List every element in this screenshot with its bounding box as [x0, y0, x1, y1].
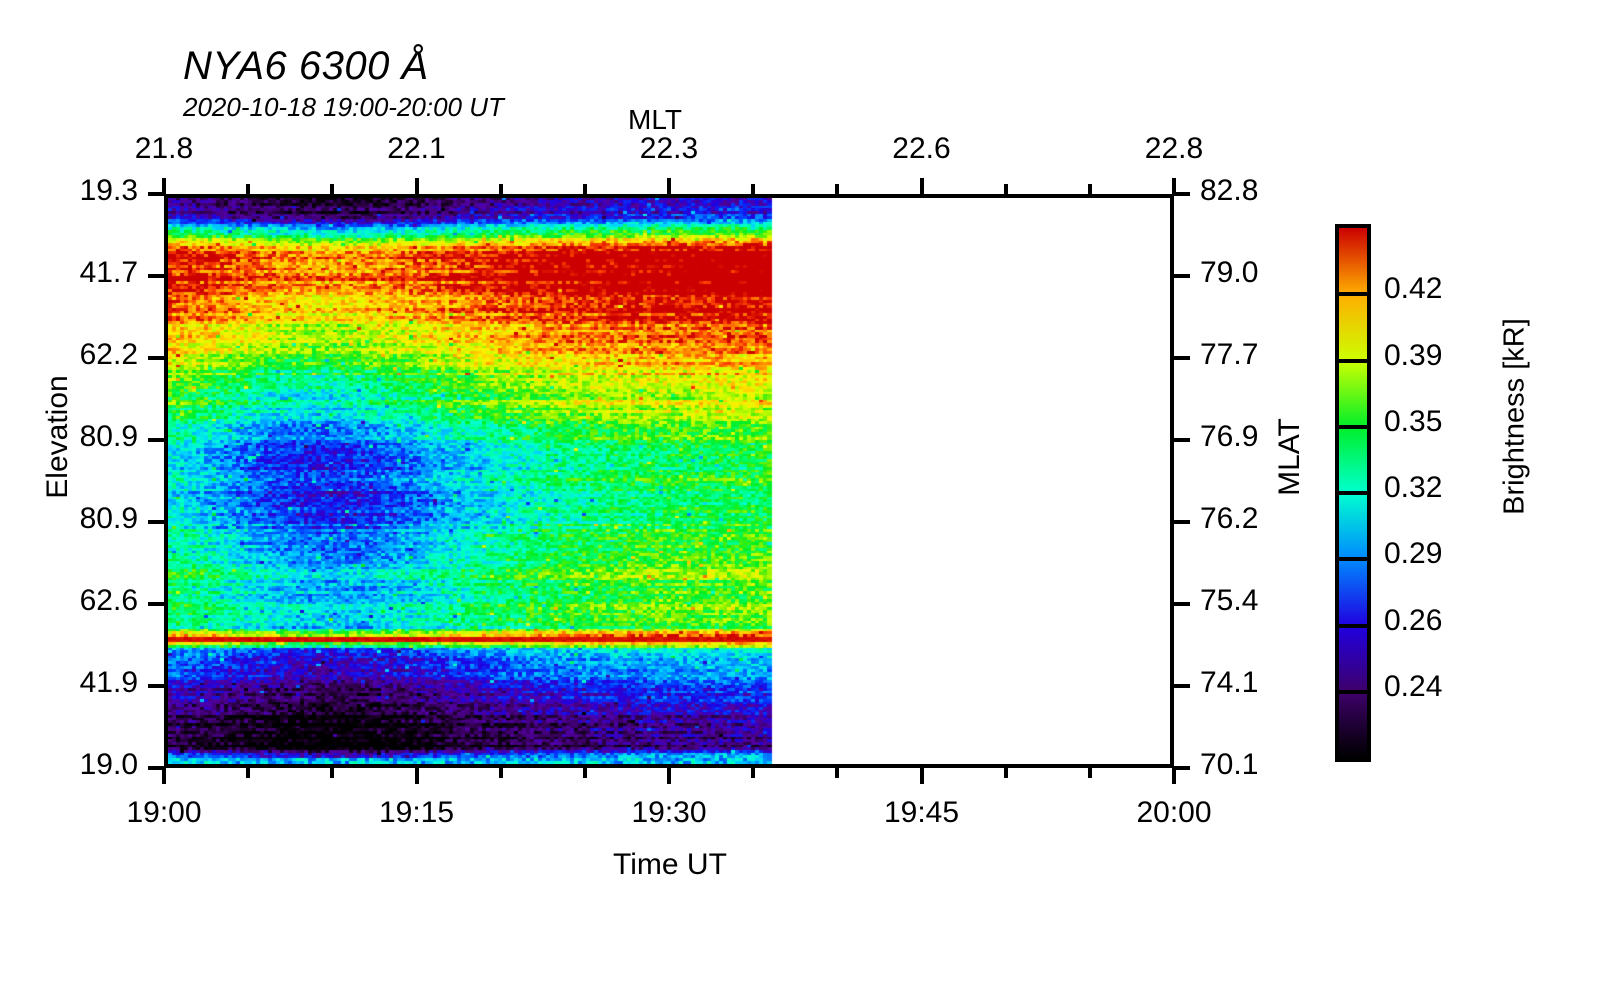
- mlt-tick-minor: [835, 184, 839, 194]
- colorbar-segment: [1339, 228, 1367, 294]
- colorbar-segment: [1339, 559, 1367, 625]
- mlat-tick-label: 76.9: [1200, 420, 1340, 454]
- colorbar-tick-label: 0.24: [1384, 670, 1442, 704]
- mlt-tick-minor: [1088, 184, 1092, 194]
- colorbar-divider: [1339, 690, 1367, 694]
- mlat-tick-major: [1174, 766, 1190, 770]
- y-tick-major: [148, 602, 164, 606]
- x-tick-minor: [751, 768, 755, 778]
- y-tick-major: [148, 356, 164, 360]
- mlt-tick-minor: [751, 184, 755, 194]
- x-tick-label: 20:00: [1094, 796, 1254, 830]
- y-tick-major: [148, 274, 164, 278]
- x-tick-label: 19:15: [337, 796, 497, 830]
- mlat-tick-major: [1174, 602, 1190, 606]
- x-tick-label: 19:00: [84, 796, 244, 830]
- colorbar-segment: [1339, 692, 1367, 758]
- colorbar-segment: [1339, 626, 1367, 692]
- x-tick-minor: [499, 768, 503, 778]
- mlt-tick-minor: [1004, 184, 1008, 194]
- x-tick-minor: [583, 768, 587, 778]
- x-tick-label: 19:30: [589, 796, 749, 830]
- x-tick-minor: [330, 768, 334, 778]
- x-tick-major: [667, 768, 671, 784]
- plot-inner: [168, 198, 1170, 764]
- mlat-tick-label: 82.8: [1200, 174, 1340, 208]
- mlt-tick-minor: [246, 184, 250, 194]
- mlat-tick-label: 79.0: [1200, 256, 1340, 290]
- colorbar: [1335, 224, 1371, 762]
- colorbar-divider: [1339, 491, 1367, 495]
- colorbar-tick-label: 0.35: [1384, 405, 1442, 439]
- mlat-tick-major: [1174, 520, 1190, 524]
- mlt-tick-label: 22.1: [337, 132, 497, 166]
- colorbar-tick-label: 0.39: [1384, 339, 1442, 373]
- colorbar-segment: [1339, 427, 1367, 493]
- y-tick-label: 80.9: [0, 420, 138, 454]
- x-tick-major: [920, 768, 924, 784]
- mlat-tick-major: [1174, 274, 1190, 278]
- mlat-tick-major: [1174, 684, 1190, 688]
- colorbar-segment: [1339, 361, 1367, 427]
- mlt-tick-label: 22.6: [842, 132, 1002, 166]
- x-tick-minor: [835, 768, 839, 778]
- y-tick-label: 41.9: [0, 666, 138, 700]
- x-tick-major: [162, 768, 166, 784]
- colorbar-tick-label: 0.32: [1384, 471, 1442, 505]
- y-tick-major: [148, 520, 164, 524]
- mlat-tick-label: 75.4: [1200, 584, 1340, 618]
- colorbar-tick-label: 0.26: [1384, 604, 1442, 638]
- colorbar-divider: [1339, 557, 1367, 561]
- mlt-tick-label: 21.8: [84, 132, 244, 166]
- y-tick-major: [148, 438, 164, 442]
- mlat-tick-major: [1174, 438, 1190, 442]
- y-tick-label: 19.3: [0, 174, 138, 208]
- y-tick-label: 62.6: [0, 584, 138, 618]
- x-axis-title: Time UT: [0, 848, 1340, 882]
- colorbar-divider: [1339, 292, 1367, 296]
- mlat-tick-major: [1174, 192, 1190, 196]
- y-tick-label: 80.9: [0, 502, 138, 536]
- colorbar-segment: [1339, 294, 1367, 360]
- mlt-tick-major: [667, 178, 671, 194]
- colorbar-divider: [1339, 425, 1367, 429]
- mlat-tick-label: 77.7: [1200, 338, 1340, 372]
- x-tick-major: [415, 768, 419, 784]
- colorbar-title: Brightness [kR]: [1499, 267, 1532, 567]
- mlat-tick-label: 70.1: [1200, 748, 1340, 782]
- x-tick-minor: [1088, 768, 1092, 778]
- colorbar-tick-label: 0.42: [1384, 272, 1442, 306]
- mlt-tick-minor: [499, 184, 503, 194]
- plot-area: [164, 194, 1174, 768]
- mlat-tick-label: 74.1: [1200, 666, 1340, 700]
- keogram-figure: NYA6 6300 Å 2020-10-18 19:00-20:00 UT ML…: [0, 0, 1600, 1000]
- x-tick-minor: [246, 768, 250, 778]
- mlt-tick-minor: [330, 184, 334, 194]
- mlt-tick-major: [415, 178, 419, 194]
- y-tick-label: 19.0: [0, 748, 138, 782]
- figure-subtitle: 2020-10-18 19:00-20:00 UT: [183, 92, 504, 123]
- y-tick-label: 41.7: [0, 256, 138, 290]
- x-tick-label: 19:45: [842, 796, 1002, 830]
- y-tick-major: [148, 684, 164, 688]
- mlat-tick-label: 76.2: [1200, 502, 1340, 536]
- mlt-tick-minor: [583, 184, 587, 194]
- colorbar-segment: [1339, 493, 1367, 559]
- x-tick-major: [1172, 768, 1176, 784]
- mlt-tick-major: [920, 178, 924, 194]
- colorbar-tick-label: 0.29: [1384, 537, 1442, 571]
- colorbar-divider: [1339, 359, 1367, 363]
- x-tick-minor: [1004, 768, 1008, 778]
- keogram-image: [168, 198, 1170, 764]
- mlat-tick-major: [1174, 356, 1190, 360]
- colorbar-divider: [1339, 624, 1367, 628]
- y-tick-major: [148, 766, 164, 770]
- mlt-tick-label: 22.8: [1094, 132, 1254, 166]
- y-tick-major: [148, 192, 164, 196]
- y-tick-label: 62.2: [0, 338, 138, 372]
- figure-title: NYA6 6300 Å: [183, 44, 429, 89]
- mlt-tick-label: 22.3: [589, 132, 749, 166]
